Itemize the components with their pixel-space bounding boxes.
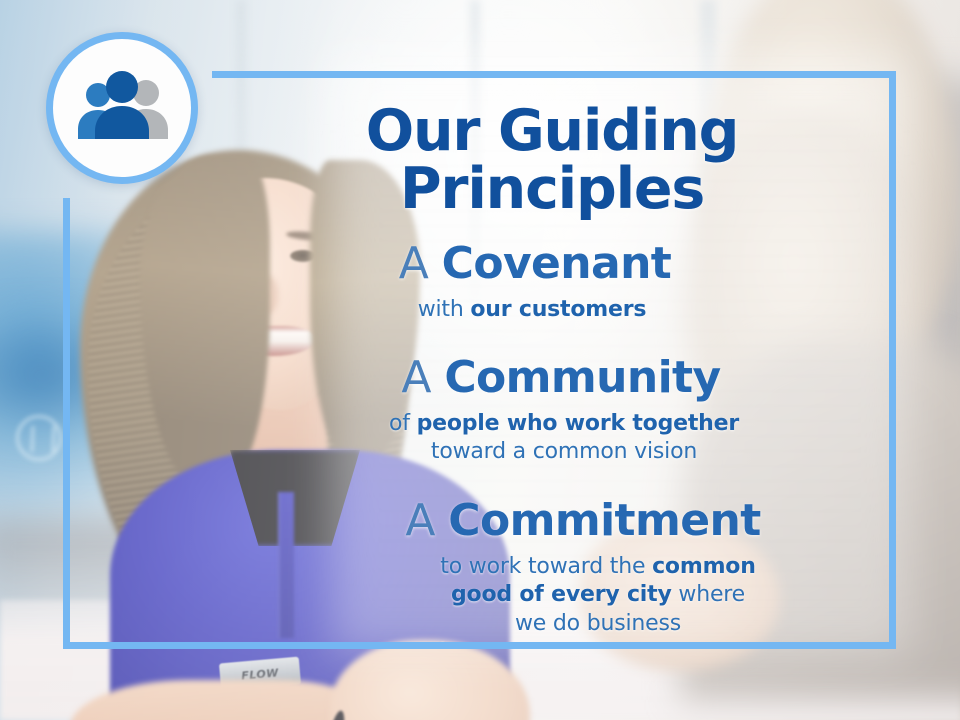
principle-article: A (399, 238, 429, 289)
poster-text-block: Our Guiding Principles A Covenant with o… (212, 86, 892, 634)
principle-subtext: of people who work togethertoward a comm… (236, 410, 892, 467)
principle-heading: A Covenant (178, 240, 892, 288)
principle-commitment: A Commitment to work toward the commongo… (212, 497, 892, 638)
principle-keyword: Commitment (448, 495, 760, 546)
page-title: Our Guiding Principles (212, 102, 892, 218)
principle-heading: A Community (230, 354, 892, 402)
principle-covenant: A Covenant with our customers (212, 240, 892, 324)
principle-subtext: with our customers (172, 296, 892, 325)
principle-subtext: to work toward the commongood of every c… (304, 553, 892, 639)
principle-article: A (401, 352, 431, 403)
people-group-badge (46, 32, 198, 184)
principle-keyword: Covenant (442, 238, 672, 289)
principle-heading: A Commitment (274, 497, 892, 545)
principle-keyword: Community (444, 352, 720, 403)
poster-canvas: FLOW FLOW (0, 0, 960, 720)
people-group-icon (70, 71, 174, 145)
principle-article: A (405, 495, 435, 546)
principle-community: A Community of people who work togethert… (212, 354, 892, 467)
